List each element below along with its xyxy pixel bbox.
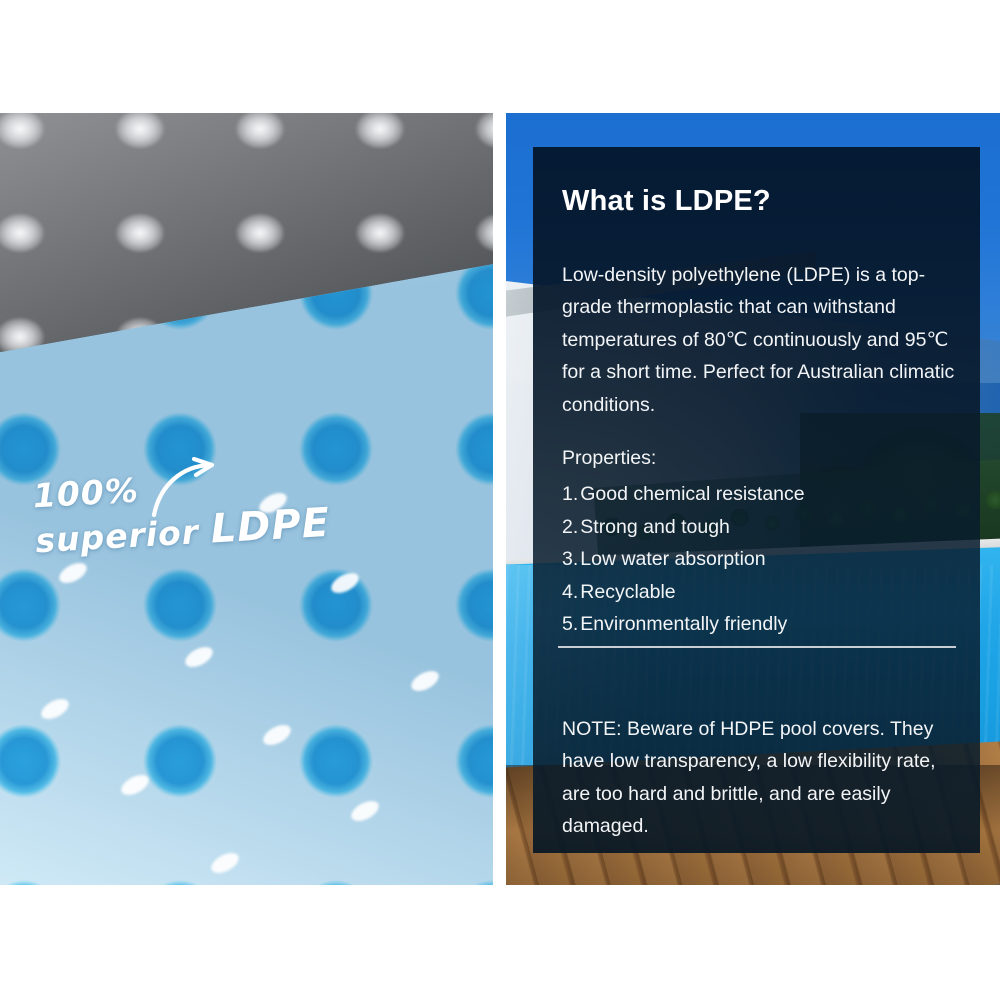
list-item: 5.Environmentally friendly [562,608,962,641]
card-note-paragraph: NOTE: Beware of HDPE pool covers. They h… [562,713,968,843]
list-item-number: 1. [562,483,578,505]
list-item-number: 3. [562,548,578,570]
ldpe-info-card: What is LDPE? Low-density polyethylene (… [533,147,980,853]
card-title: What is LDPE? [562,185,771,218]
left-product-image-panel: 100% superiorLDPE [0,113,493,885]
list-item-label: Strong and tough [580,516,730,538]
list-item-number: 2. [562,516,578,538]
list-item-number: 5. [562,613,578,635]
list-item: 2.Strong and tough [562,511,962,544]
list-item: 3.Low water absorption [562,543,962,576]
properties-list: 1.Good chemical resistance 2.Strong and … [562,478,962,641]
card-divider [558,646,956,648]
list-item-label: Environmentally friendly [580,613,787,635]
list-item-number: 4. [562,581,578,603]
list-item-label: Good chemical resistance [580,483,804,505]
list-item: 4.Recyclable [562,576,962,609]
right-info-panel: What is LDPE? Low-density polyethylene (… [506,113,1000,885]
product-infographic: 100% superiorLDPE What is LDPE? Low-dens… [0,0,1000,1000]
list-item: 1.Good chemical resistance [562,478,962,511]
list-item-label: Recyclable [580,581,675,603]
card-intro-paragraph: Low-density polyethylene (LDPE) is a top… [562,259,962,422]
list-item-label: Low water absorption [580,548,765,570]
handwriting-ldpe: LDPE [209,500,331,553]
handwritten-marketing-text: 100% superiorLDPE [32,463,336,560]
properties-heading: Properties: [562,447,656,470]
